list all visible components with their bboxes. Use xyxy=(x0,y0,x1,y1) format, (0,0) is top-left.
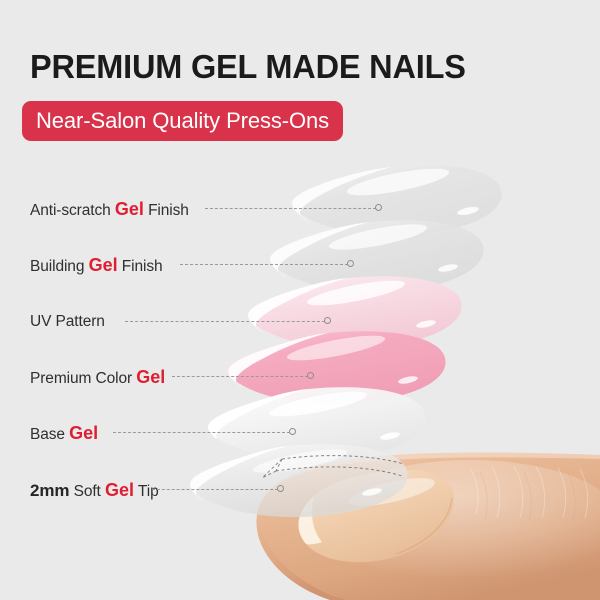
leader-endpoint-2mm-soft-gel-tip xyxy=(277,485,284,492)
leader-line-base-gel xyxy=(113,432,290,433)
layer-label-building-gel-finish: Building Gel Finish xyxy=(30,254,163,276)
subtitle-badge: Near-Salon Quality Press-Ons xyxy=(22,101,343,141)
layer-label-premium-color-gel: Premium Color Gel xyxy=(30,366,165,388)
page-title: PREMIUM GEL MADE NAILS xyxy=(30,48,466,86)
layer-label-text: 2mm Soft Gel Tip xyxy=(30,480,159,501)
subtitle-badge-label: Near-Salon Quality Press-Ons xyxy=(36,108,329,134)
layer-label-text: Building Gel Finish xyxy=(30,255,163,276)
layer-label-uv-pattern: UV Pattern xyxy=(30,311,105,333)
layer-label-text: Premium Color Gel xyxy=(30,367,165,388)
leader-line-uv-pattern xyxy=(125,321,325,322)
nail-layer-stack-illustration xyxy=(0,0,600,600)
leader-endpoint-building-gel-finish xyxy=(347,260,354,267)
layer-label-text: Base Gel xyxy=(30,423,98,444)
layer-label-base-gel: Base Gel xyxy=(30,422,98,444)
leader-line-premium-color-gel xyxy=(172,376,308,377)
layer-label-anti-scratch-gel-finish: Anti-scratch Gel Finish xyxy=(30,198,189,220)
layer-label-2mm-soft-gel-tip: 2mm Soft Gel Tip xyxy=(30,479,159,501)
infographic-canvas: PREMIUM GEL MADE NAILS Near-Salon Qualit… xyxy=(0,0,600,600)
leader-endpoint-anti-scratch-gel-finish xyxy=(375,204,382,211)
layer-label-text: Anti-scratch Gel Finish xyxy=(30,199,189,220)
leader-line-building-gel-finish xyxy=(180,264,348,265)
leader-endpoint-uv-pattern xyxy=(324,317,331,324)
layer-label-text: UV Pattern xyxy=(30,313,105,331)
leader-endpoint-premium-color-gel xyxy=(307,372,314,379)
leader-endpoint-base-gel xyxy=(289,428,296,435)
leader-line-anti-scratch-gel-finish xyxy=(205,208,376,209)
leader-line-2mm-soft-gel-tip xyxy=(152,489,278,490)
